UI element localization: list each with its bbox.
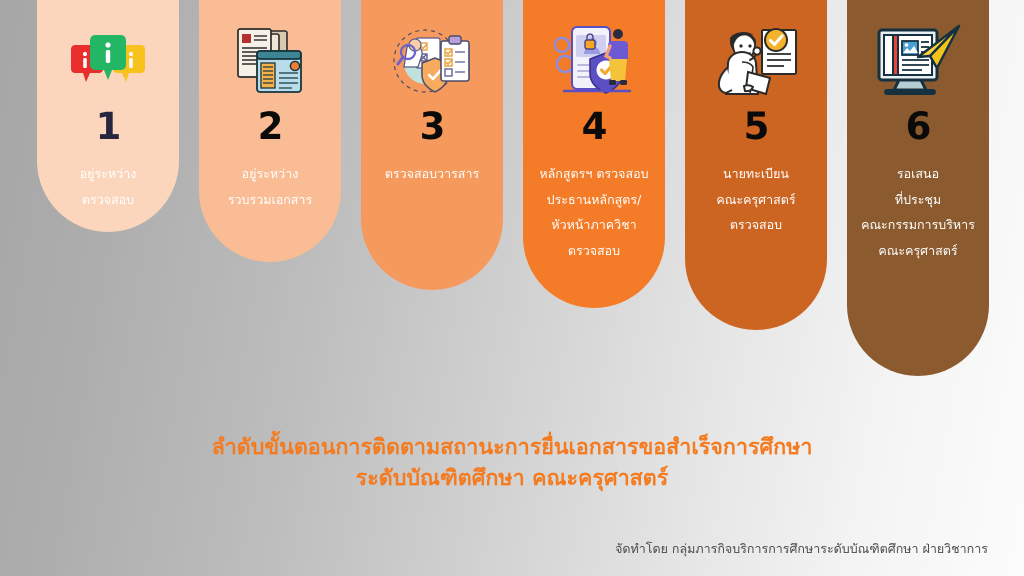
step-column-4[interactable]: 4 หลักสูตรฯ ตรวจสอบ ประธานหลักสูตร/ หัวห… bbox=[523, 0, 665, 308]
step-label: อยู่ระหว่าง ตรวจสอบ bbox=[37, 161, 179, 212]
step-label-line: อยู่ระหว่าง bbox=[204, 161, 336, 187]
monitor-paper-plane-send-icon bbox=[847, 22, 989, 100]
step-column-1[interactable]: 1 อยู่ระหว่าง ตรวจสอบ bbox=[37, 0, 179, 232]
step-label-line: หลักสูตรฯ ตรวจสอบ bbox=[528, 161, 660, 187]
page-title-line-2: ระดับบัณฑิตศึกษา คณะครุศาสตร์ bbox=[0, 463, 1024, 494]
step-label-line: รวบรวมเอกสาร bbox=[204, 187, 336, 213]
step-number: 5 bbox=[685, 108, 827, 145]
step-label-line: ตรวจสอบ bbox=[42, 187, 174, 213]
step-label-line: หัวหน้าภาควิชา bbox=[528, 212, 660, 238]
checklist-shield-review-icon bbox=[361, 22, 503, 100]
step-column-5[interactable]: 5 นายทะเบียน คณะครุศาสตร์ ตรวจสอบ bbox=[685, 0, 827, 330]
step-label-line: รอเสนอ bbox=[852, 161, 984, 187]
footer-credit: จัดทำโดย กลุ่มภารกิจบริการการศึกษาระดับบ… bbox=[615, 539, 988, 559]
step-label-line: อยู่ระหว่าง bbox=[42, 161, 174, 187]
process-steps-row: 1 อยู่ระหว่าง ตรวจสอบ bbox=[37, 0, 987, 400]
step-label: หลักสูตรฯ ตรวจสอบ ประธานหลักสูตร/ หัวหน้… bbox=[523, 161, 665, 264]
step-label-line: คณะกรรมการบริหาร bbox=[852, 212, 984, 238]
step-number: 2 bbox=[199, 108, 341, 145]
step-label-line: คณะครุศาสตร์ bbox=[690, 187, 822, 213]
step-label-line: ตรวจสอบวารสาร bbox=[366, 161, 498, 187]
step-label: นายทะเบียน คณะครุศาสตร์ ตรวจสอบ bbox=[685, 161, 827, 238]
page-title: ลำดับขั้นตอนการติดตามสถานะการยื่นเอกสารข… bbox=[0, 432, 1024, 494]
step-label-line: ตรวจสอบ bbox=[528, 238, 660, 264]
step-label-line: นายทะเบียน bbox=[690, 161, 822, 187]
step-number: 1 bbox=[37, 108, 179, 145]
documents-stack-icon bbox=[199, 22, 341, 100]
step-label-line: ประธานหลักสูตร/ bbox=[528, 187, 660, 213]
step-label: รอเสนอ ที่ประชุม คณะกรรมการบริหาร คณะครุ… bbox=[847, 161, 989, 264]
speech-bubbles-info-icon bbox=[37, 22, 179, 100]
step-column-2[interactable]: 2 อยู่ระหว่าง รวบรวมเอกสาร bbox=[199, 0, 341, 262]
step-number: 6 bbox=[847, 108, 989, 145]
step-label-line: คณะครุศาสตร์ bbox=[852, 238, 984, 264]
step-label-line: ที่ประชุม bbox=[852, 187, 984, 213]
step-label: อยู่ระหว่าง รวบรวมเอกสาร bbox=[199, 161, 341, 212]
secure-document-person-icon bbox=[523, 22, 665, 100]
step-number: 4 bbox=[523, 108, 665, 145]
step-label-line: ตรวจสอบ bbox=[690, 212, 822, 238]
step-number: 3 bbox=[361, 108, 503, 145]
person-approved-document-icon bbox=[685, 22, 827, 100]
step-label: ตรวจสอบวารสาร bbox=[361, 161, 503, 187]
step-column-3[interactable]: 3 ตรวจสอบวารสาร bbox=[361, 0, 503, 290]
step-column-6[interactable]: 6 รอเสนอ ที่ประชุม คณะกรรมการบริหาร คณะค… bbox=[847, 0, 989, 376]
page-title-line-1: ลำดับขั้นตอนการติดตามสถานะการยื่นเอกสารข… bbox=[0, 432, 1024, 463]
